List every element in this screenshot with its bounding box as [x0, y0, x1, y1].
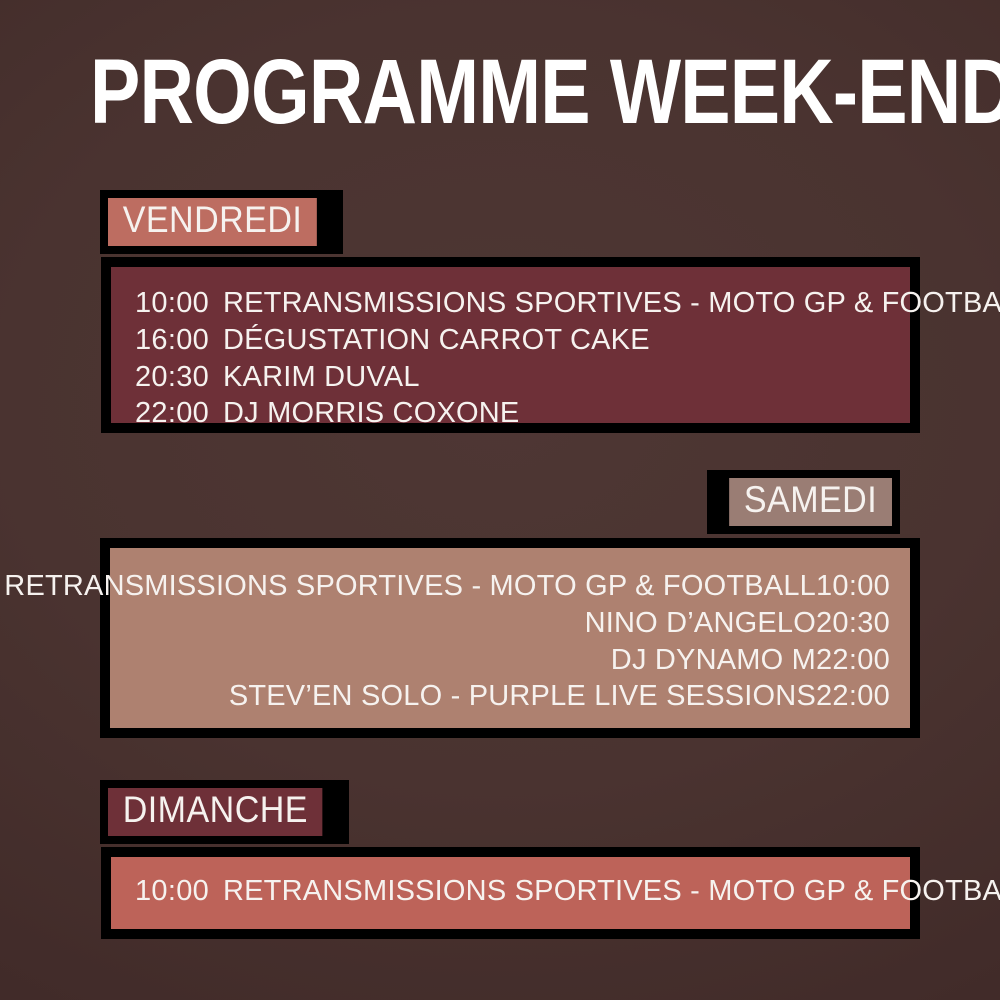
event-row: NINO D’ANGELO 20:30 — [110, 605, 890, 642]
weekend-programme-poster: PROGRAMME WEEK-END VENDREDI 10:00 RETRAN… — [0, 0, 1000, 1000]
event-time: 20:30 — [135, 359, 223, 396]
day-tab-samedi[interactable]: SAMEDI — [707, 470, 900, 534]
day-body-dimanche: 10:00 RETRANSMISSIONS SPORTIVES - MOTO G… — [101, 847, 920, 939]
event-time: 22:00 — [816, 678, 890, 715]
day-tab-dimanche[interactable]: DIMANCHE — [100, 780, 349, 844]
day-body-samedi: RETRANSMISSIONS SPORTIVES - MOTO GP & FO… — [100, 538, 920, 738]
event-label: RETRANSMISSIONS SPORTIVES - MOTO GP & FO… — [223, 285, 1000, 322]
event-label: NINO D’ANGELO — [585, 605, 816, 642]
day-body-inner-vendredi: 10:00 RETRANSMISSIONS SPORTIVES - MOTO G… — [111, 267, 910, 423]
event-row: 16:00 DÉGUSTATION CARROT CAKE — [135, 322, 910, 359]
event-time: 10:00 — [816, 568, 890, 605]
event-row: 10:00 RETRANSMISSIONS SPORTIVES - MOTO G… — [135, 285, 910, 322]
event-time: 22:00 — [135, 395, 223, 432]
event-time: 10:00 — [135, 873, 223, 910]
event-row: STEV’EN SOLO - PURPLE LIVE SESSIONS 22:0… — [110, 678, 890, 715]
day-body-vendredi: 10:00 RETRANSMISSIONS SPORTIVES - MOTO G… — [101, 257, 920, 433]
day-body-inner-dimanche: 10:00 RETRANSMISSIONS SPORTIVES - MOTO G… — [111, 857, 910, 929]
event-row: 22:00 DJ MORRIS COXONE — [135, 395, 910, 432]
day-tab-label-samedi: SAMEDI — [729, 478, 892, 526]
event-label: DJ MORRIS COXONE — [223, 395, 519, 432]
day-tab-vendredi[interactable]: VENDREDI — [100, 190, 343, 254]
day-section-samedi: SAMEDI RETRANSMISSIONS SPORTIVES - MOTO … — [100, 470, 900, 740]
day-body-inner-samedi: RETRANSMISSIONS SPORTIVES - MOTO GP & FO… — [110, 548, 910, 728]
event-label: STEV’EN SOLO - PURPLE LIVE SESSIONS — [229, 678, 816, 715]
day-section-dimanche: DIMANCHE 10:00 RETRANSMISSIONS SPORTIVES… — [100, 780, 900, 940]
event-row: RETRANSMISSIONS SPORTIVES - MOTO GP & FO… — [110, 568, 890, 605]
event-row: 20:30 KARIM DUVAL — [135, 359, 910, 396]
event-row: 10:00 RETRANSMISSIONS SPORTIVES - MOTO G… — [135, 873, 910, 910]
event-label: RETRANSMISSIONS SPORTIVES - MOTO GP & FO… — [223, 873, 1000, 910]
day-tab-label-dimanche: DIMANCHE — [108, 788, 323, 836]
day-tab-label-vendredi: VENDREDI — [108, 198, 317, 246]
day-section-vendredi: VENDREDI 10:00 RETRANSMISSIONS SPORTIVES… — [100, 190, 900, 440]
event-time: 22:00 — [816, 642, 890, 679]
event-row: DJ DYNAMO M 22:00 — [110, 642, 890, 679]
event-label: RETRANSMISSIONS SPORTIVES - MOTO GP & FO… — [4, 568, 816, 605]
event-label: DJ DYNAMO M — [611, 642, 816, 679]
event-time: 16:00 — [135, 322, 223, 359]
event-label: DÉGUSTATION CARROT CAKE — [223, 322, 650, 359]
event-label: KARIM DUVAL — [223, 359, 420, 396]
event-time: 20:30 — [816, 605, 890, 642]
page-title: PROGRAMME WEEK-END — [90, 46, 910, 138]
event-time: 10:00 — [135, 285, 223, 322]
